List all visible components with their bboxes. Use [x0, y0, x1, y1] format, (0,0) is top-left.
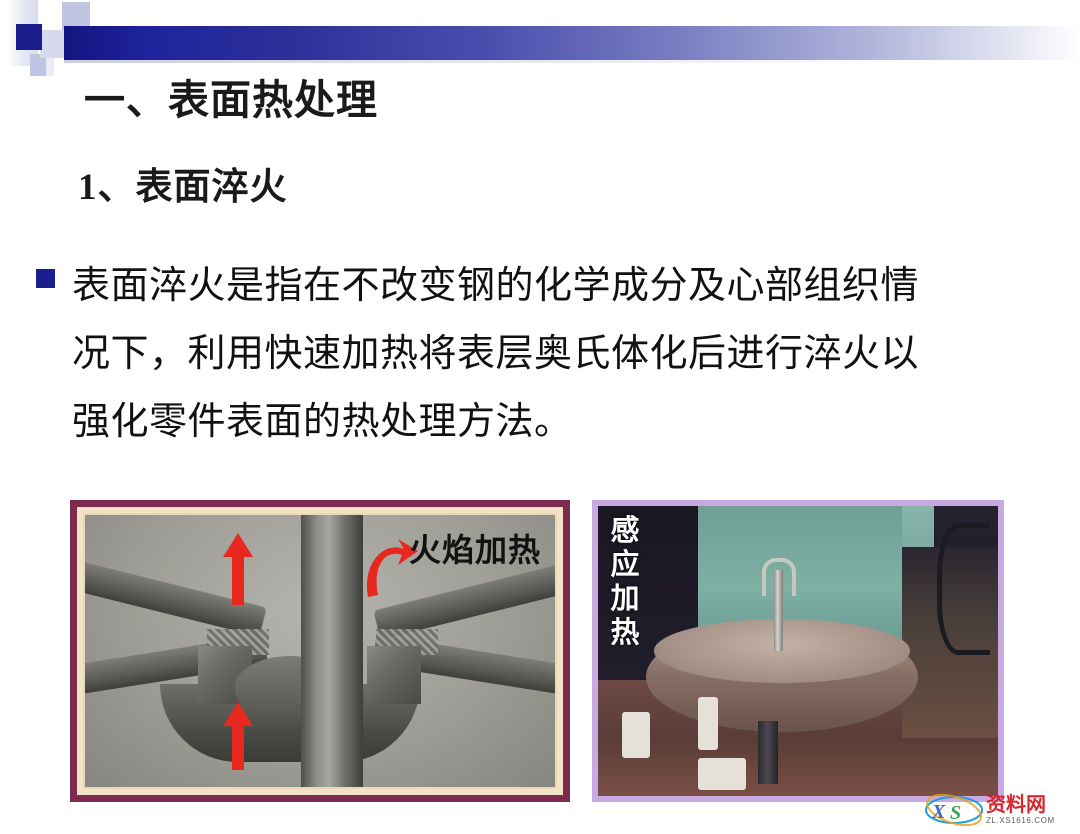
figure-induction-heating: 感应加热	[592, 500, 1004, 802]
up-arrow-icon	[221, 700, 255, 772]
body-content: 表面淬火是指在不改变钢的化学成分及心部组织情 况下，利用快速加热将表层奥氏体化后…	[36, 252, 1046, 456]
machine-shaft	[301, 515, 363, 787]
body-line-3: 强化零件表面的热处理方法。	[72, 388, 1022, 456]
body-line-1: 表面淬火是指在不改变钢的化学成分及心部组织情	[72, 252, 1022, 320]
body-line-2: 况下，利用快速加热将表层奥氏体化后进行淬火以	[72, 320, 1022, 388]
figure-flame-heating-caption: 火焰加热	[409, 525, 541, 571]
section-subtitle: 1、表面淬火	[78, 156, 288, 210]
header-gradient-bar	[64, 26, 1080, 60]
photo-support-pad	[698, 697, 718, 749]
figure-induction-heating-image: 感应加热	[598, 506, 998, 796]
figure-flame-heating-image: 火焰加热	[83, 513, 557, 789]
photo-support-pad	[698, 758, 746, 790]
svg-text:X: X	[931, 801, 946, 823]
watermark: X S 资料网 ZL.XS1616.COM	[924, 788, 1074, 832]
svg-text:S: S	[950, 802, 961, 824]
photo-pipe	[937, 523, 990, 655]
square-bullet-icon	[36, 269, 55, 288]
xs-logo-icon: X S	[924, 793, 984, 827]
watermark-text: 资料网 ZL.XS1616.COM	[984, 795, 1074, 826]
deco-square-lavender-a	[40, 30, 66, 58]
bullet-paragraph: 表面淬火是指在不改变钢的化学成分及心部组织情 况下，利用快速加热将表层奥氏体化后…	[36, 252, 1046, 456]
machine-block	[367, 646, 421, 704]
photo-support-pad	[622, 712, 650, 758]
body-paragraph: 表面淬火是指在不改变钢的化学成分及心部组织情 况下，利用快速加热将表层奥氏体化后…	[72, 252, 1022, 456]
watermark-url: ZL.XS1616.COM	[986, 815, 1074, 826]
page-title: 一、表面热处理	[84, 66, 378, 126]
slide-canvas: 一、表面热处理 1、表面淬火 表面淬火是指在不改变钢的化学成分及心部组织情 况下…	[0, 0, 1080, 834]
photo-hook	[762, 558, 796, 596]
watermark-brand: 资料网	[986, 795, 1074, 815]
header-decoration	[0, 0, 1080, 72]
figure-flame-heating: 火焰加热	[70, 500, 570, 802]
up-arrow-icon	[221, 531, 255, 607]
header-bar-shadow	[64, 60, 1080, 63]
deco-square-navy	[16, 24, 42, 50]
figure-induction-heating-caption: 感应加热	[608, 514, 642, 650]
photo-base-column	[758, 721, 778, 785]
